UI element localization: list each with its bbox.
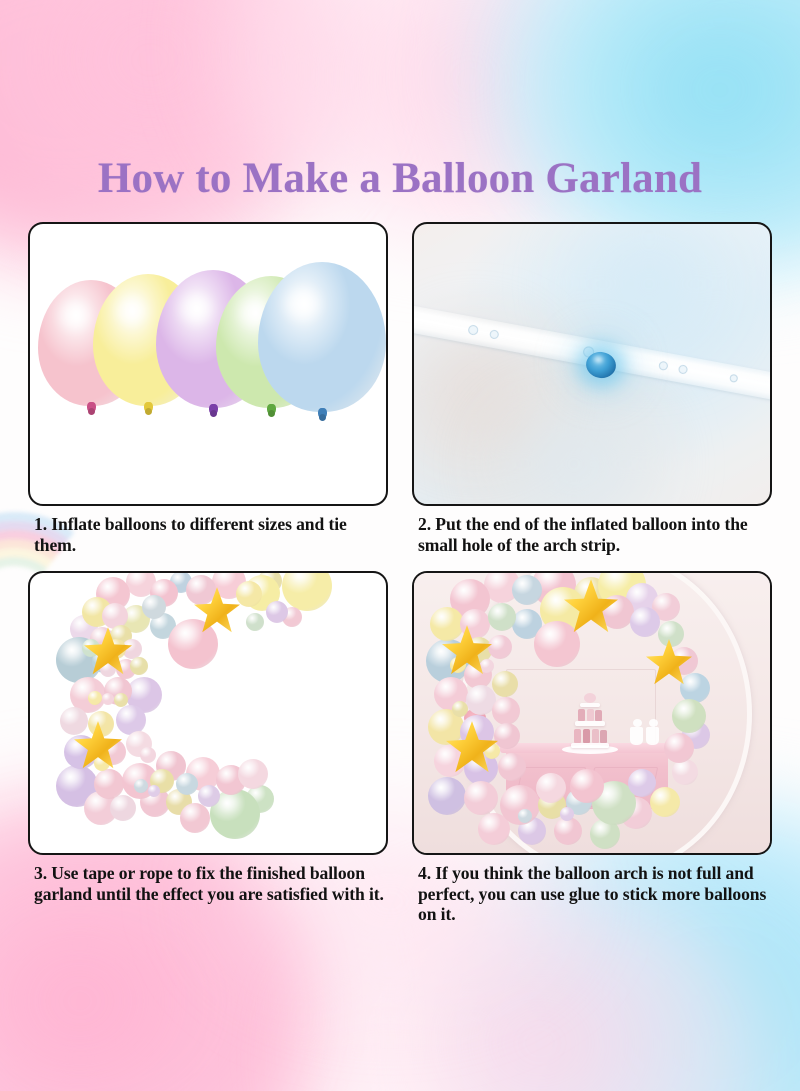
garland-balloon [630,607,660,637]
garland-balloon [488,603,516,631]
dessert-4 [600,730,607,743]
garland-balloon [168,619,218,669]
garland-balloon [430,607,464,641]
garland-balloon [246,613,264,631]
garland-balloon [498,753,526,781]
step-card-2: 2. Put the end of the inflated balloon i… [412,222,772,555]
step-2-caption: 2. Put the end of the inflated balloon i… [412,506,772,555]
cake-tier-middle [575,721,605,726]
steps-row-1: 1. Inflate balloons to different sizes a… [28,222,772,555]
garland-balloon [536,773,566,803]
garland-balloon [492,671,518,697]
garland-balloon [512,575,542,605]
garland-balloon [94,769,124,799]
step-card-4: 4. If you think the balloon arch is not … [412,571,772,925]
strip-hole-5 [729,374,738,383]
step-card-3: 3. Use tape or rope to fix the finished … [28,571,388,925]
garland-balloon [554,817,582,845]
cake-tier-top [580,703,600,707]
garland-balloon [110,795,136,821]
dessert-3 [592,729,599,743]
dessert-2 [583,729,590,743]
garland-balloon [238,759,268,789]
step-3-caption: 3. Use tape or rope to fix the finished … [28,855,388,904]
garland-balloon [180,803,210,833]
garland-balloon [282,571,332,611]
strip-hole-1 [467,324,479,336]
cup-2 [646,727,659,745]
balloon-knot-lavender [209,404,218,415]
balloon-knot-blue [318,408,327,419]
balloon-knot-pink [87,402,96,413]
dessert-7 [595,710,602,721]
page-title: How to Make a Balloon Garland [0,154,800,203]
garland-balloon [198,785,220,807]
garland-balloon [60,707,88,735]
balloon-blue [258,262,386,412]
garland-balloon [130,657,148,675]
steps-row-2: 3. Use tape or rope to fix the finished … [28,571,772,925]
cake-top-decoration [584,693,596,703]
dessert-1 [574,729,581,743]
step-3-image [28,571,388,855]
garland-balloon [570,769,604,803]
garland-balloon [176,773,198,795]
tutorial-page: How to Make a Balloon Garland 1. Inflate… [0,0,800,1091]
cake-tier-bottom [571,743,609,748]
garland-balloon [628,769,656,797]
strip-hole-2 [489,329,499,339]
garland-balloon [534,621,580,667]
garland-balloon [140,747,156,763]
dessert-6 [587,709,594,721]
garland-balloon [488,635,512,659]
garland-balloon [492,697,520,725]
garland-balloon [672,759,698,785]
steps-grid: 1. Inflate balloons to different sizes a… [28,222,772,925]
step-2-image [412,222,772,506]
garland-balloon [650,787,680,817]
garland-balloon [186,575,216,605]
garland-balloon [658,621,684,647]
garland-balloon [236,581,262,607]
strip-hole-3 [658,361,668,371]
balloon-knot-green [267,404,276,415]
dessert-5 [578,709,585,721]
step-1-caption: 1. Inflate balloons to different sizes a… [28,506,388,555]
cake-stand [569,699,611,751]
step-4-image [412,571,772,855]
garland-balloon [464,781,498,815]
step-4-caption: 4. If you think the balloon arch is not … [412,855,772,925]
garland-balloon [142,595,166,619]
strip-hole-4 [678,364,688,374]
garland-balloon [428,777,466,815]
garland-balloon [266,601,288,623]
cup-1 [630,727,643,745]
balloon-knot-yellow [144,402,153,413]
garland-balloon [664,733,694,763]
step-card-1: 1. Inflate balloons to different sizes a… [28,222,388,555]
garland-balloon [672,699,706,733]
step-1-image [28,222,388,506]
